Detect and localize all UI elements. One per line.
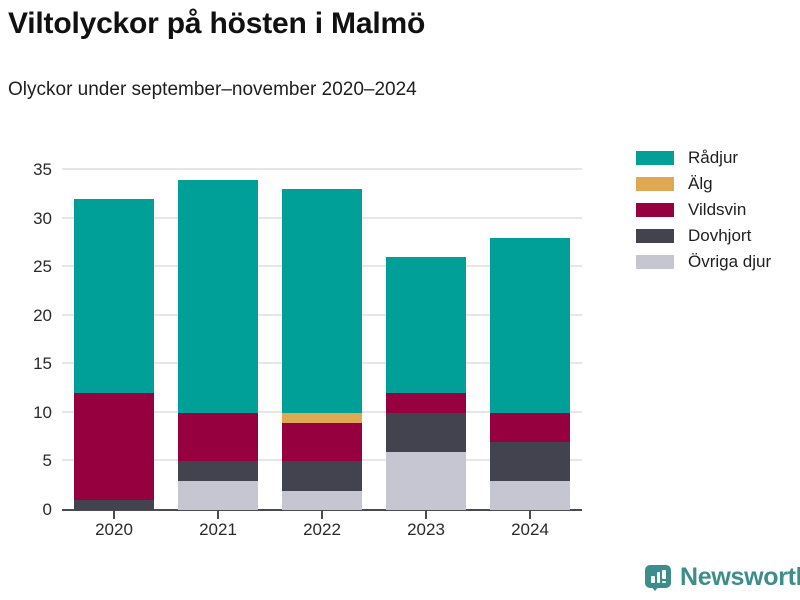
logo-wordmark: Newsworthy: [680, 563, 800, 592]
y-axis-tick-label: 25: [6, 257, 52, 277]
legend-color-swatch: [636, 255, 674, 269]
x-axis-tick: [113, 511, 115, 519]
legend-item[interactable]: Vildsvin: [636, 197, 800, 223]
bar-segment[interactable]: [74, 500, 154, 510]
legend-item[interactable]: Övriga djur: [636, 249, 800, 275]
bar-segment[interactable]: [490, 481, 570, 510]
x-axis-tick-label: 2024: [511, 520, 549, 540]
x-axis-tick-label: 2021: [199, 520, 237, 540]
bar-segment[interactable]: [178, 413, 258, 462]
x-axis-tick: [217, 511, 219, 519]
legend-label: Övriga djur: [688, 252, 771, 272]
bar-stack[interactable]: [386, 170, 466, 510]
bar-segment[interactable]: [178, 180, 258, 413]
x-axis-tick-label: 2022: [303, 520, 341, 540]
bar-segment[interactable]: [282, 461, 362, 490]
chart-container: Viltolyckor på hösten i Malmö Olyckor un…: [0, 0, 800, 600]
y-axis-tick-label: 35: [6, 160, 52, 180]
y-axis-tick-label: 20: [6, 306, 52, 326]
newsworthy-logo[interactable]: Newsworthy: [645, 563, 800, 592]
legend-color-swatch: [636, 229, 674, 243]
legend-item[interactable]: Rådjur: [636, 145, 800, 171]
bar-segment[interactable]: [282, 423, 362, 462]
legend-item[interactable]: Dovhjort: [636, 223, 800, 249]
plot-area: [62, 170, 582, 510]
legend: RådjurÄlgVildsvinDovhjortÖvriga djur: [636, 145, 800, 275]
chart-title: Viltolyckor på hösten i Malmö: [8, 7, 425, 41]
bar-stack[interactable]: [490, 170, 570, 510]
bar-segment[interactable]: [282, 189, 362, 412]
y-axis-tick-label: 15: [6, 354, 52, 374]
y-axis-tick-label: 0: [6, 500, 52, 520]
x-axis-tick: [321, 511, 323, 519]
legend-label: Rådjur: [688, 148, 738, 168]
bar-segment[interactable]: [282, 491, 362, 510]
legend-item[interactable]: Älg: [636, 171, 800, 197]
chart-subtitle: Olyckor under september–november 2020–20…: [8, 79, 417, 101]
legend-color-swatch: [636, 177, 674, 191]
bar-segment[interactable]: [178, 461, 258, 480]
legend-label: Vildsvin: [688, 200, 746, 220]
bar-stack[interactable]: [74, 170, 154, 510]
bar-segment[interactable]: [282, 413, 362, 423]
bar-segment[interactable]: [178, 481, 258, 510]
x-axis-tick-label: 2023: [407, 520, 445, 540]
bar-stack[interactable]: [282, 170, 362, 510]
y-axis: 05101520253035: [0, 170, 52, 510]
x-axis-tick: [425, 511, 427, 519]
bar-segment[interactable]: [386, 257, 466, 393]
bar-segment[interactable]: [386, 393, 466, 412]
x-axis-tick-label: 2020: [95, 520, 133, 540]
legend-label: Älg: [688, 174, 713, 194]
legend-color-swatch: [636, 203, 674, 217]
bar-segment[interactable]: [386, 413, 466, 452]
y-axis-tick-label: 10: [6, 403, 52, 423]
y-axis-tick-label: 5: [6, 451, 52, 471]
bar-segment[interactable]: [490, 413, 570, 442]
bar-segment[interactable]: [490, 238, 570, 413]
bar-segment[interactable]: [386, 452, 466, 510]
x-axis-tick: [529, 511, 531, 519]
y-axis-tick-label: 30: [6, 209, 52, 229]
bar-segment[interactable]: [74, 393, 154, 500]
bar-segment[interactable]: [74, 199, 154, 393]
bar-segment[interactable]: [490, 442, 570, 481]
bar-stack[interactable]: [178, 170, 258, 510]
bar-chart-speech-bubble-icon: [645, 565, 671, 591]
legend-label: Dovhjort: [688, 226, 751, 246]
legend-color-swatch: [636, 151, 674, 165]
